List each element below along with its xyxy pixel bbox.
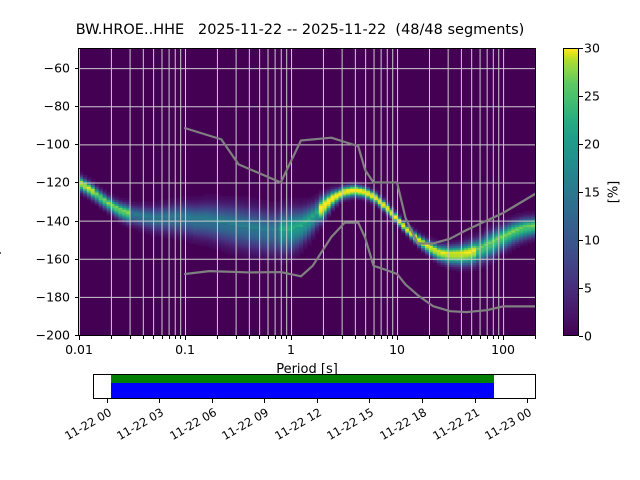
y-axis-label: Amplitude [m2/s4/Hz] [dB] [0,108,2,277]
timeline-tick-label: 11-22 18 [365,405,429,450]
y-tick-label: −100 [6,137,76,152]
x-tick-mark-minor [355,336,356,339]
x-tick-mark-minor [535,336,536,339]
ppsd-plot-figure: BW.HROE..HHE 2025-11-22 -- 2025-11-22 (4… [0,0,640,480]
density-cell [464,236,469,239]
density-cell [327,186,332,189]
density-cell [319,190,324,193]
density-cell [83,175,88,178]
y-tick-label: −80 [6,99,76,114]
density-cell [295,198,300,201]
density-cell [130,202,135,205]
x-tick-mark-minor [487,336,488,339]
density-cell [236,196,241,199]
timeline-tick-label: 11-22 15 [312,405,376,450]
y-tick-mark [75,144,79,145]
x-tick-mark-minor [471,336,472,339]
timeline-tick-label: 11-22 09 [207,405,271,450]
x-tick-mark-minor [342,336,343,339]
y-tick-label: −160 [6,251,76,266]
density-cell [118,198,123,201]
timeline-tick-mark [475,399,476,403]
x-tick-mark-major [397,336,398,340]
density-cell [193,196,198,199]
y-tick-label: −200 [6,328,76,343]
density-cell [91,179,96,182]
colorbar-label: [%] [607,181,622,204]
density-cell [307,198,312,201]
density-cell [201,196,206,199]
timeline-tick-label: 11-22 21 [417,405,481,450]
density-cell [260,200,265,203]
x-tick-mark-minor [281,336,282,339]
x-tick-mark-minor [392,336,393,339]
x-tick-mark-minor [387,336,388,339]
plot-clip-region [79,49,535,335]
plot-title: BW.HROE..HHE 2025-11-22 -- 2025-11-22 (4… [0,22,600,38]
colorbar-tick-mark [579,192,583,193]
density-cell [390,203,395,206]
x-tick-mark-minor [162,336,163,339]
density-cell [240,196,245,199]
x-tick-mark-major [291,336,292,340]
density-cell [421,232,426,235]
y-tick-mark [75,221,79,222]
x-tick-mark-minor [130,336,131,339]
density-cell [205,194,210,197]
colorbar-tick-mark [579,48,583,49]
timeline-tick-mark [527,399,528,403]
x-tick-mark-minor [111,336,112,339]
colorbar [563,48,579,336]
density-cell [134,202,139,205]
density-cell [248,198,253,201]
density-cell [472,232,477,235]
timeline-tick-mark [212,399,213,403]
density-cell [488,224,493,227]
colorbar-tick-mark [579,336,583,337]
x-tick-mark-minor [374,336,375,339]
density-cell [142,202,147,205]
density-cell [386,200,391,203]
x-tick-label: 0.01 [65,342,93,357]
x-tick-mark-minor [323,336,324,339]
timeline-tick-label: 11-23 00 [470,405,534,450]
density-cell [138,202,143,205]
colorbar-tick-mark [579,144,583,145]
density-cell [224,196,229,199]
density-cell [213,194,218,197]
density-cell [169,198,174,201]
x-tick-mark-minor [365,336,366,339]
x-tick-mark-minor [381,336,382,339]
colorbar-tick-mark [579,240,583,241]
density-cell [492,223,497,226]
colorbar-tick-label: 10 [584,233,600,248]
x-tick-mark-minor [480,336,481,339]
x-tick-mark-minor [143,336,144,339]
x-tick-mark-minor [461,336,462,339]
density-cell [515,213,520,216]
density-cell [335,184,340,187]
x-tick-mark-minor [153,336,154,339]
density-cell [527,211,532,214]
timeline-tick-mark [317,399,318,403]
density-cell [299,198,304,201]
density-cell [197,196,202,199]
y-tick-mark [75,259,79,260]
density-cell [433,238,438,241]
x-tick-mark-minor [236,336,237,339]
density-cell [146,202,151,205]
colorbar-tick-label: 0 [584,329,592,344]
x-tick-mark-major [503,336,504,340]
colorbar-tick-mark [579,96,583,97]
density-cell [154,202,159,205]
x-tick-mark-minor [498,336,499,339]
y-tick-mark [75,297,79,298]
x-tick-mark-minor [268,336,269,339]
x-tick-mark-minor [448,336,449,339]
x-tick-mark-minor [286,336,287,339]
timeline-tick-mark [159,399,160,403]
x-tick-mark-minor [180,336,181,339]
ppsd-axes [78,48,536,336]
density-cell [114,196,119,199]
colorbar-tick-label: 15 [584,185,600,200]
timeline-tick-mark [107,399,108,403]
density-cell [511,215,516,218]
x-tick-label: 10 [389,342,405,357]
density-cell [315,194,320,197]
colorbar-tick-label: 30 [584,41,600,56]
colorbar-tick-label: 25 [584,89,600,104]
density-cell [425,234,430,237]
y-tick-mark [75,182,79,183]
grid-lines [79,49,535,335]
x-tick-mark-major [79,336,80,340]
density-cell [311,196,316,199]
density-cell [523,211,528,214]
colorbar-tick-mark [579,288,583,289]
density-cell [417,230,422,233]
density-cell [331,184,336,187]
density-cell [397,213,402,216]
density-cell [452,240,457,243]
y-tick-label: −60 [6,61,76,76]
timeline-tick-mark [369,399,370,403]
density-cell [303,198,308,201]
y-tick-label: −180 [6,289,76,304]
x-tick-label: 1 [287,342,295,357]
y-tick-mark [75,106,79,107]
density-cell [221,196,226,199]
density-cell [158,200,163,203]
density-cell [87,177,92,180]
x-tick-mark-minor [429,336,430,339]
timeline-tick-label: 11-22 03 [102,405,166,450]
density-cell [504,217,509,220]
density-cell [366,184,371,187]
y-tick-mark [75,68,79,69]
density-cell [507,215,512,218]
density-cell [209,194,214,197]
density-cell [283,198,288,201]
density-cell [189,196,194,199]
density-cell [519,213,524,216]
x-tick-label: 100 [491,342,515,357]
density-cell [228,196,233,199]
colorbar-tick-label: 5 [584,281,592,296]
density-cell [103,188,108,191]
x-tick-mark-minor [259,336,260,339]
data-coverage-timeline [93,374,536,399]
y-tick-label: −140 [6,213,76,228]
density-cell [480,228,485,231]
density-cell [456,238,461,241]
density-cell [244,196,249,199]
density-cell [99,186,104,189]
x-tick-mark-minor [169,336,170,339]
timeline-tick-mark [422,399,423,403]
density-cell [122,198,127,201]
density-cell [413,228,418,231]
y-tick-label: −120 [6,175,76,190]
coverage-bar-green [111,375,494,383]
density-cell [382,196,387,199]
x-tick-mark-minor [249,336,250,339]
density-bins [79,171,535,273]
density-cell [252,198,257,201]
x-tick-mark-major [185,336,186,340]
x-tick-mark-minor [493,336,494,339]
x-tick-mark-minor [275,336,276,339]
coverage-bar-blue [111,383,494,398]
x-tick-label: 0.1 [175,342,195,357]
ppsd-density-canvas [79,49,535,335]
x-tick-mark-minor [217,336,218,339]
density-cell [531,211,535,214]
density-cell [484,226,489,229]
density-cell [276,202,281,205]
colorbar-tick-label: 20 [584,137,600,152]
timeline-tick-mark [264,399,265,403]
density-cell [107,192,112,195]
y-tick-mark [75,335,79,336]
x-tick-mark-minor [175,336,176,339]
